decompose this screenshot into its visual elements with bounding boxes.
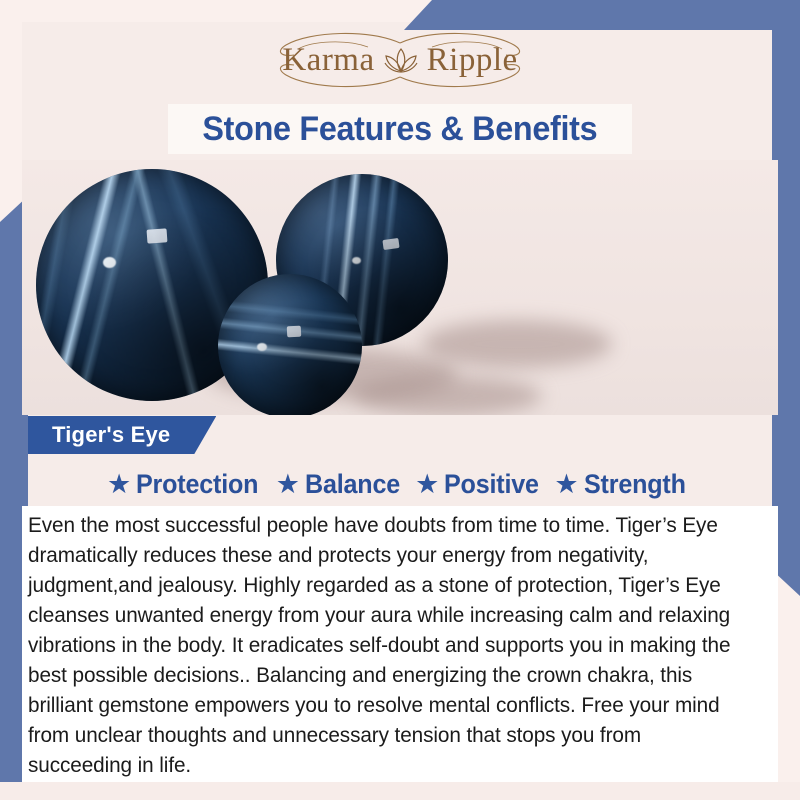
star-icon: ★ <box>276 471 300 498</box>
gemstone-bead-small <box>218 274 362 415</box>
feature-label: Protection <box>136 469 258 500</box>
star-icon: ★ <box>415 471 439 498</box>
title-banner: Stone Features & Benefits <box>168 104 632 154</box>
bead-shadow <box>352 376 542 415</box>
poster-bottom-edge <box>0 782 800 800</box>
star-icon: ★ <box>554 471 578 498</box>
feature-balance: ★ Balance <box>272 469 411 500</box>
infographic-poster: Karma Ripple Stone Featur <box>0 0 800 800</box>
stone-name-label: Tiger's Eye <box>52 422 170 448</box>
gemstone-photo <box>22 160 778 415</box>
stone-description-text: Even the most successful people have dou… <box>28 510 738 780</box>
brand-name-right: Ripple <box>427 42 518 79</box>
star-icon: ★ <box>107 471 131 498</box>
brand-logo: Karma Ripple <box>0 26 800 94</box>
feature-label: Positive <box>444 469 539 500</box>
brand-name-left: Karma <box>282 42 374 79</box>
feature-protection: ★ Protection <box>103 469 272 500</box>
stone-features-row: ★ Protection ★ Balance ★ Positive ★ Stre… <box>22 464 778 504</box>
feature-label: Strength <box>584 469 686 500</box>
feature-strength: ★ Strength <box>550 469 697 500</box>
bead-shadow <box>422 320 612 368</box>
stone-name-tab: Tiger's Eye <box>28 416 216 454</box>
feature-label: Balance <box>305 469 400 500</box>
lotus-icon <box>381 45 421 75</box>
feature-positive: ★ Positive <box>411 469 550 500</box>
stone-description-panel: Even the most successful people have dou… <box>22 506 778 782</box>
page-title: Stone Features & Benefits <box>203 110 598 149</box>
